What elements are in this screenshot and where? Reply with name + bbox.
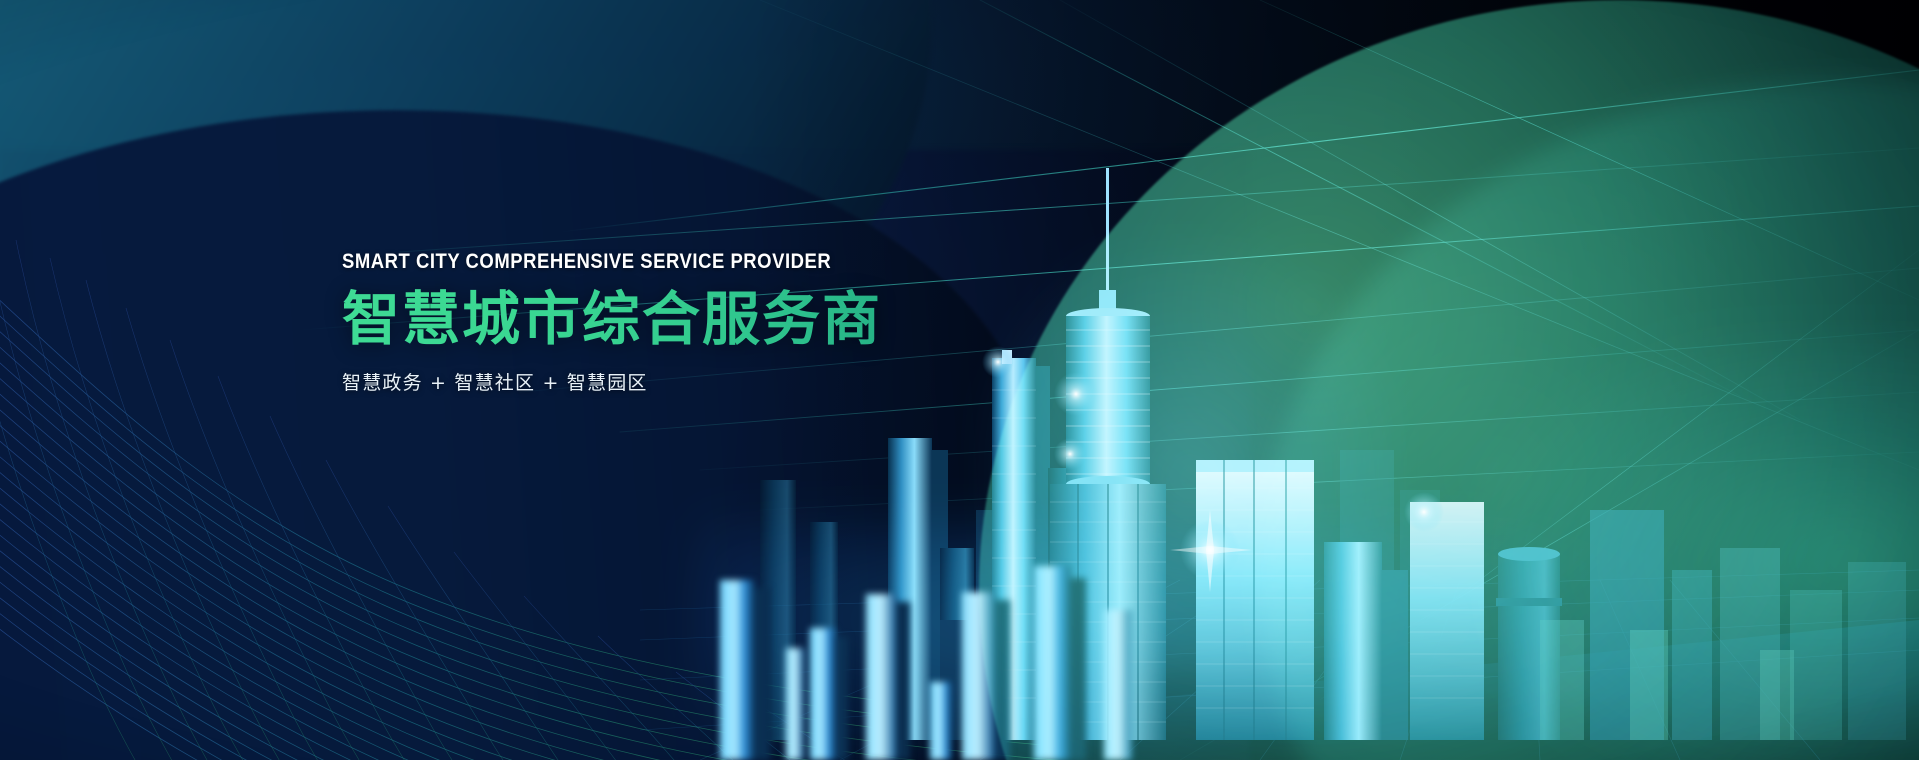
green-right-glow [1479, 330, 1919, 760]
hero-headline: 智慧城市综合服务商 [342, 287, 1102, 352]
hero-copy-block: SMART CITY COMPREHENSIVE SERVICE PROVIDE… [342, 250, 1102, 395]
hero-subline: 智慧政务 + 智慧社区 + 智慧园区 [342, 368, 1102, 395]
hero-banner: SMART CITY COMPREHENSIVE SERVICE PROVIDE… [0, 0, 1919, 760]
hero-eyebrow: SMART CITY COMPREHENSIVE SERVICE PROVIDE… [342, 250, 1011, 273]
